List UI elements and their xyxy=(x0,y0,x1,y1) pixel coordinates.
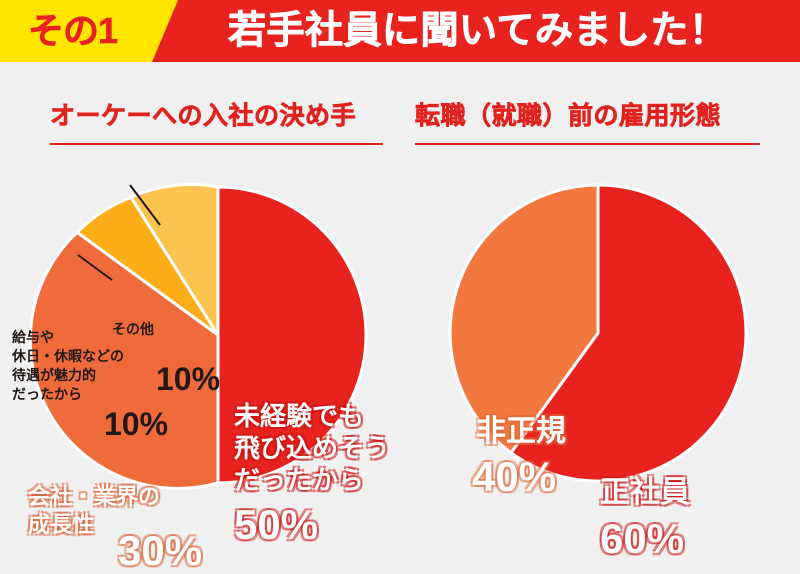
section-heading-left: オーケーへの入社の決め手 xyxy=(50,100,356,132)
header-banner: その1 若手社員に聞いてみました！ xyxy=(0,0,800,62)
section-heading-right-underline xyxy=(415,143,760,145)
slice-value-fulltime: 60% xyxy=(600,516,684,562)
slice-label-inexperienced: 未経験でも 飛び込めそう だったから xyxy=(234,400,390,496)
charts-area: その他 給与や 休日・休暇などの 待遇が魅力的 だったから 未経験でも 飛び込め… xyxy=(0,150,800,533)
slice-label-fulltime: 正社員 xyxy=(600,475,690,511)
slice-value-inexperienced: 50% xyxy=(234,502,318,548)
slice-value-other: 10% xyxy=(156,361,220,397)
slice-value-benefits: 10% xyxy=(104,406,168,442)
label-benefits: 給与や 休日・休暇などの 待遇が魅力的 だったから xyxy=(12,328,124,404)
slice-value-nonregular: 40% xyxy=(472,454,556,500)
header-badge-label: その1 xyxy=(28,9,117,53)
section-heading-right: 転職（就職）前の雇用形態 xyxy=(415,100,721,132)
header-title: 若手社員に聞いてみました！ xyxy=(228,7,727,55)
section-heading-left-underline xyxy=(50,143,383,145)
slice-label-nonregular: 非正規 xyxy=(476,414,566,450)
slice-value-growth: 30% xyxy=(118,528,202,574)
